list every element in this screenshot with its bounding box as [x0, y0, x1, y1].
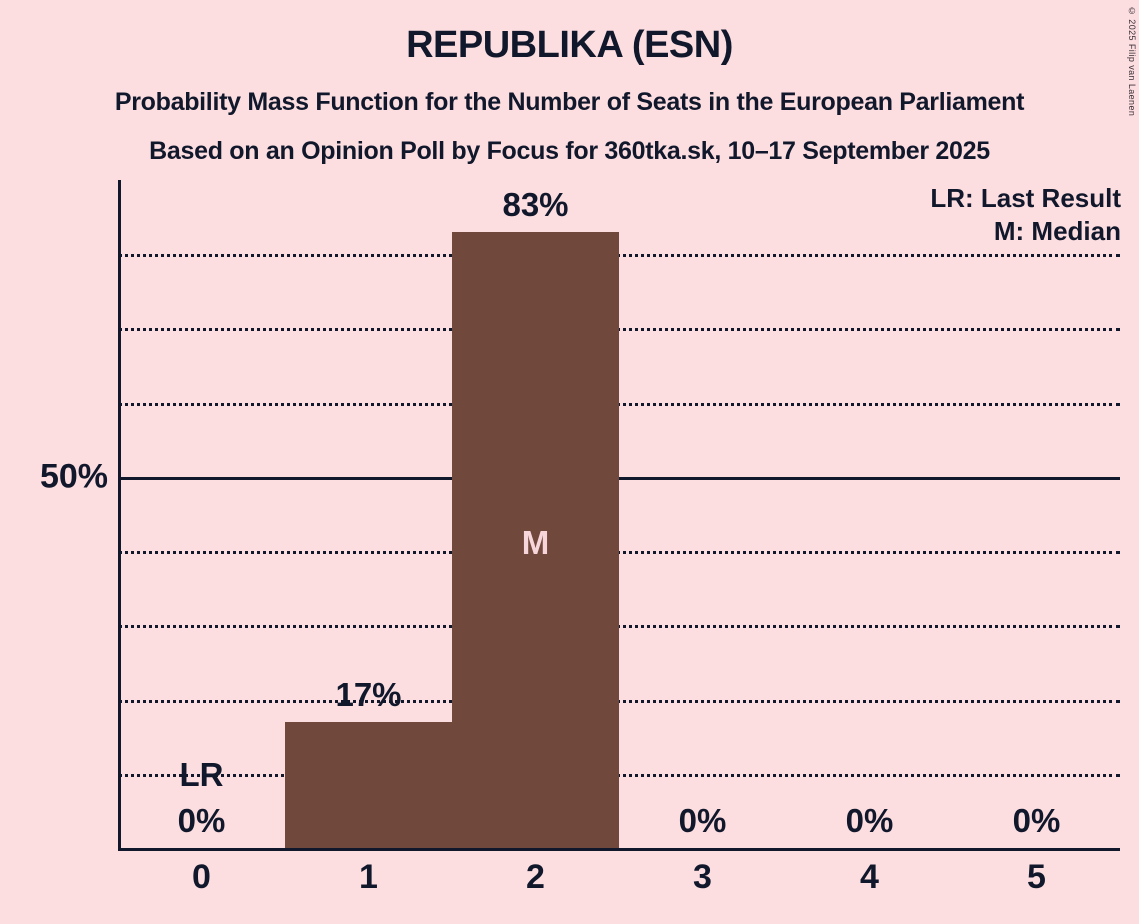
x-axis-tick-labels: 012345 [118, 858, 1120, 897]
x-axis-tick-label-3: 3 [619, 858, 786, 897]
bar-slot-5[interactable]: 0% [953, 180, 1120, 848]
bar-slot-0[interactable]: 0%LR [118, 180, 285, 848]
plot-area: 0%LR17%83%M0%0%0% [118, 180, 1120, 848]
bar-value-label-3: 0% [619, 802, 786, 840]
chart-subtitle-primary: Probability Mass Function for the Number… [0, 88, 1139, 117]
x-axis-tick-label-5: 5 [953, 858, 1120, 897]
bar-value-label-1: 17% [285, 676, 452, 714]
bar-1[interactable] [285, 722, 452, 848]
copyright-notice: © 2025 Filip van Laenen [1127, 6, 1137, 116]
x-axis-tick-label-0: 0 [118, 858, 285, 897]
x-axis-tick-label-1: 1 [285, 858, 452, 897]
x-axis-tick-label-4: 4 [786, 858, 953, 897]
chart-root: REPUBLIKA (ESN) Probability Mass Functio… [0, 0, 1139, 924]
bars-layer: 0%LR17%83%M0%0%0% [118, 180, 1120, 848]
bar-slot-2[interactable]: 83%M [452, 180, 619, 848]
bar-slot-4[interactable]: 0% [786, 180, 953, 848]
y-axis-line [118, 180, 121, 850]
y-axis-tick-label: 50% [40, 457, 108, 496]
page-title: REPUBLIKA (ESN) [0, 24, 1139, 67]
bar-value-label-0: 0% [118, 802, 285, 840]
y-axis-tick-labels: 50% [0, 180, 108, 848]
x-axis-tick-label-2: 2 [452, 858, 619, 897]
bar-slot-3[interactable]: 0% [619, 180, 786, 848]
x-axis-line [118, 848, 1120, 851]
bar-marker-lr-0: LR [118, 756, 285, 794]
bar-value-label-4: 0% [786, 802, 953, 840]
bar-value-label-5: 0% [953, 802, 1120, 840]
bar-slot-1[interactable]: 17% [285, 180, 452, 848]
chart-subtitle-source: Based on an Opinion Poll by Focus for 36… [0, 137, 1139, 166]
bar-value-label-2: 83% [452, 186, 619, 224]
bar-marker-m-2: M [452, 524, 619, 562]
